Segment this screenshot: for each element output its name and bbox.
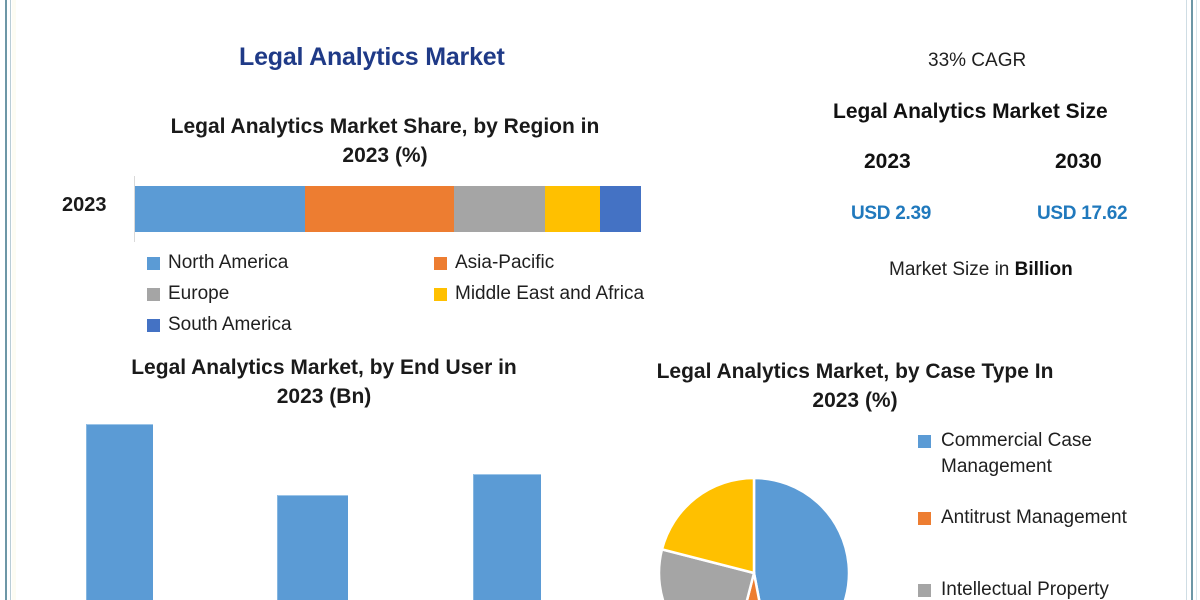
legend-item-middle-east-and-africa: Middle East and Africa [434,283,644,305]
market-size-base-year: 2023 [864,150,911,174]
market-size-forecast-value: USD 17.62 [1037,203,1127,225]
region-bar-segment-middle-east-and-africa [545,186,600,232]
frame-border-right-inner [1186,0,1187,600]
market-size-footnote: Market Size in Billion [889,259,1073,281]
legend-item-label: Middle East and Africa [455,283,644,305]
region-chart-title-line1: Legal Analytics Market Share, by Region … [128,112,642,141]
legend-swatch-icon [147,319,160,332]
legend-swatch-icon [434,288,447,301]
case-type-pie-chart [658,477,850,600]
end-user-chart-title: Legal Analytics Market, by End User in 2… [98,353,550,411]
case-type-chart-title-line1: Legal Analytics Market, by Case Type In [630,357,1080,386]
end-user-chart-title-line1: Legal Analytics Market, by End User in [98,353,550,382]
frame-border-left-inner [10,0,11,600]
case-type-chart-title: Legal Analytics Market, by Case Type In … [630,357,1080,415]
pie-legend-item-commercial-case-management: Commercial Case Management [918,428,1200,480]
region-bar-segment-asia-pacific [305,186,455,232]
region-bar-category-label: 2023 [62,194,107,217]
legend-item-north-america: North America [147,252,288,274]
region-chart-title-line2: 2023 (%) [128,141,642,170]
region-chart-title: Legal Analytics Market Share, by Region … [128,112,642,170]
pie-legend-item-antitrust-management: Antitrust Management [918,505,1127,531]
market-size-base-value: USD 2.39 [851,203,931,225]
pie-legend-swatch-icon [918,435,931,448]
market-size-forecast-year: 2030 [1055,150,1102,174]
end-user-bar-1 [86,424,153,600]
frame-border-left [5,0,7,600]
region-bar-segment-europe [454,186,545,232]
page-title: Legal Analytics Market [239,43,505,72]
cagr-label: 33% CAGR [928,50,1026,72]
frame-border-right [1191,0,1193,600]
pie-legend-item-label: Commercial Case Management [941,428,1200,480]
pie-legend-item-label: Intellectual Property [941,577,1109,600]
legend-item-label: Europe [168,283,229,305]
region-stacked-bar-chart [135,186,641,232]
legend-item-label: North America [168,252,288,274]
market-size-footnote-unit: Billion [1015,259,1073,280]
legend-swatch-icon [147,257,160,270]
legend-item-asia-pacific: Asia-Pacific [434,252,554,274]
legend-item-europe: Europe [147,283,229,305]
legend-item-label: South America [168,314,292,336]
case-type-chart-title-line2: 2023 (%) [630,386,1080,415]
market-size-footnote-prefix: Market Size in [889,259,1015,280]
region-stacked-bar [135,186,641,232]
legend-item-south-america: South America [147,314,292,336]
legend-item-label: Asia-Pacific [455,252,554,274]
end-user-chart-title-line2: 2023 (Bn) [98,382,550,411]
region-bar-segment-north-america [135,186,305,232]
market-size-heading: Legal Analytics Market Size [833,100,1108,124]
pie-legend-item-label: Antitrust Management [941,505,1127,531]
region-bar-segment-south-america [600,186,640,232]
infographic-canvas: Legal Analytics Market Legal Analytics M… [0,0,1200,600]
pie-slice-1 [754,478,849,600]
end-user-bar-2 [277,495,348,600]
pie-legend-swatch-icon [918,584,931,597]
legend-swatch-icon [147,288,160,301]
frame-accent-right [1196,0,1197,600]
legend-swatch-icon [434,257,447,270]
end-user-bar-3 [473,474,541,600]
frame-accent-left [12,0,16,600]
pie-legend-swatch-icon [918,512,931,525]
pie-legend-item-intellectual-property: Intellectual Property [918,577,1109,600]
